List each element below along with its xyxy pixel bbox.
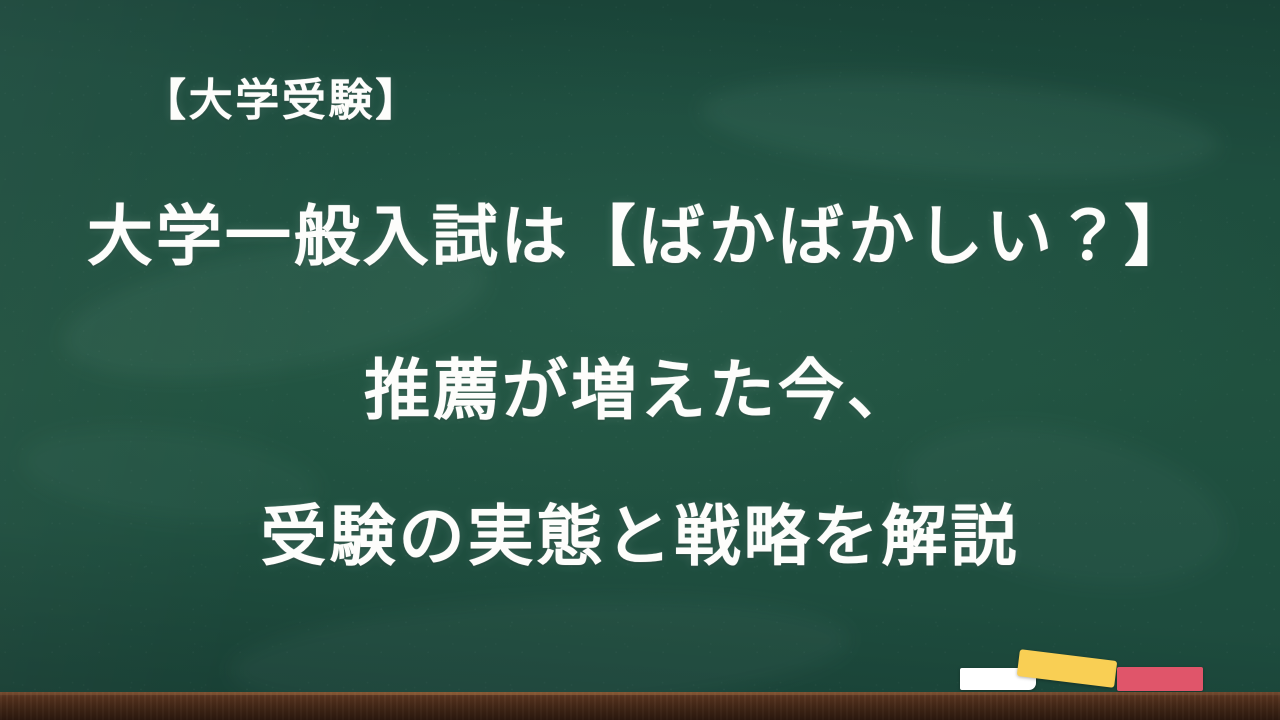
eyebrow-label: 【大学受験】 [142,72,422,130]
headline-line-3: 受験の実態と戦略を解説 [0,494,1280,580]
headline-line-2: 推薦が増えた今、 [0,348,1280,434]
headline-line-1: 大学一般入試は【ばかばかしい？】 [0,194,1280,280]
thumbnail-canvas: 【大学受験】 大学一般入試は【ばかばかしい？】 推薦が増えた今、 受験の実態と戦… [0,0,1280,720]
chalk-smudge-icon [697,62,1222,193]
red-chalk-icon [1117,667,1203,691]
ledge-highlight [0,692,1280,695]
chalkboard-ledge [0,692,1280,720]
